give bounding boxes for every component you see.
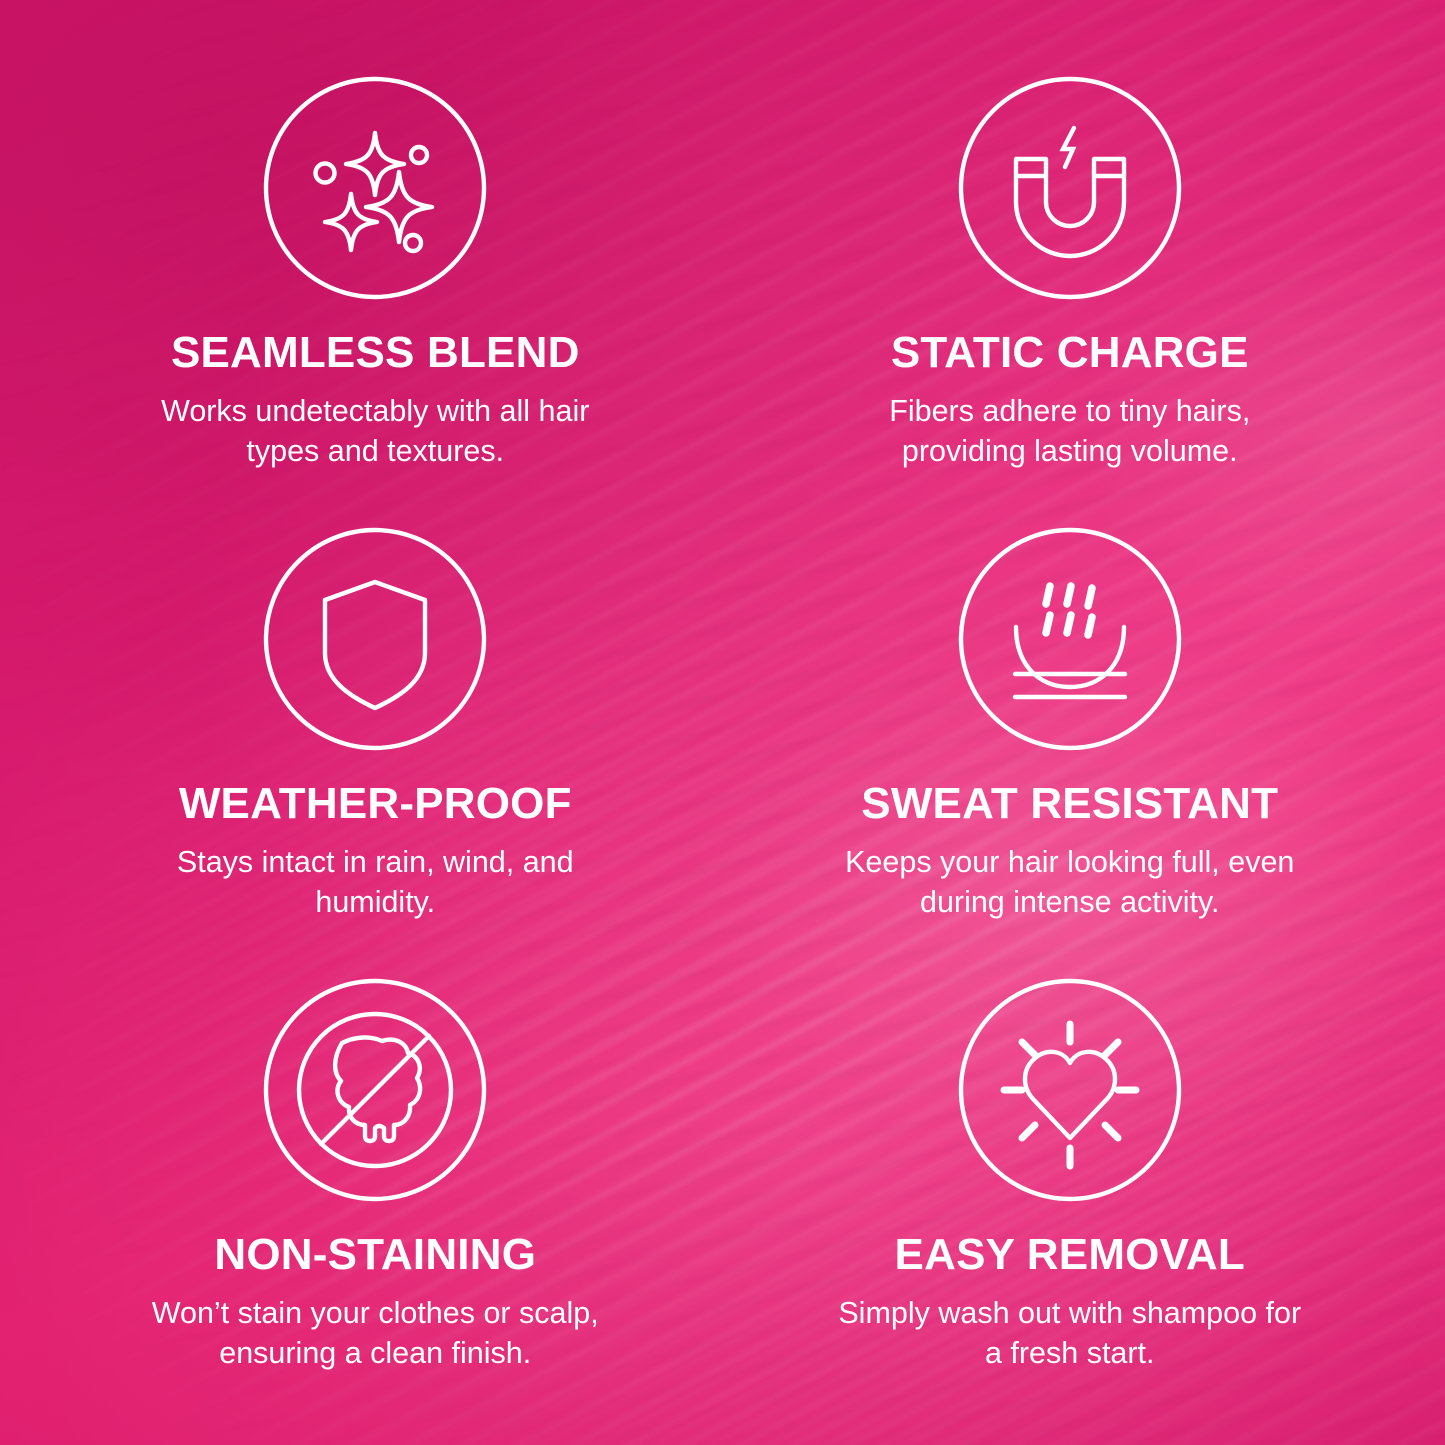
feature-description: Won’t stain your clothes or scalp, ensur…: [140, 1293, 610, 1375]
heart-shine-icon: [958, 978, 1182, 1202]
feature-grid: SEAMLESS BLEND Works undetectably with a…: [0, 0, 1445, 1445]
feature-item-sweat-resistant: SWEAT RESISTANT Keeps your hair looking …: [723, 503, 1418, 954]
magnet-icon: [958, 76, 1182, 300]
no-stain-icon: [263, 978, 487, 1202]
feature-title: WEATHER-PROOF: [179, 781, 572, 828]
sparkles-icon: [263, 76, 487, 300]
feature-title: EASY REMOVAL: [895, 1232, 1245, 1279]
feature-item-easy-removal: EASY REMOVAL Simply wash out with shampo…: [723, 954, 1418, 1405]
feature-title: NON-STAINING: [214, 1232, 536, 1279]
feature-description: Works undetectably with all hair types a…: [140, 391, 610, 473]
feature-title: SEAMLESS BLEND: [171, 330, 580, 377]
feature-title: STATIC CHARGE: [891, 330, 1249, 377]
feature-item-weather-proof: WEATHER-PROOF Stays intact in rain, wind…: [28, 503, 723, 954]
feature-item-seamless-blend: SEAMLESS BLEND Works undetectably with a…: [28, 52, 723, 503]
water-repellent-icon: [958, 527, 1182, 751]
feature-infographic: SEAMLESS BLEND Works undetectably with a…: [0, 0, 1445, 1445]
feature-description: Fibers adhere to tiny hairs, providing l…: [835, 391, 1305, 473]
feature-description: Keeps your hair looking full, even durin…: [835, 842, 1305, 924]
feature-title: SWEAT RESISTANT: [861, 781, 1278, 828]
shield-icon: [263, 527, 487, 751]
feature-description: Simply wash out with shampoo for a fresh…: [835, 1293, 1305, 1375]
feature-description: Stays intact in rain, wind, and humidity…: [140, 842, 610, 924]
feature-item-static-charge: STATIC CHARGE Fibers adhere to tiny hair…: [723, 52, 1418, 503]
feature-item-non-staining: NON-STAINING Won’t stain your clothes or…: [28, 954, 723, 1405]
